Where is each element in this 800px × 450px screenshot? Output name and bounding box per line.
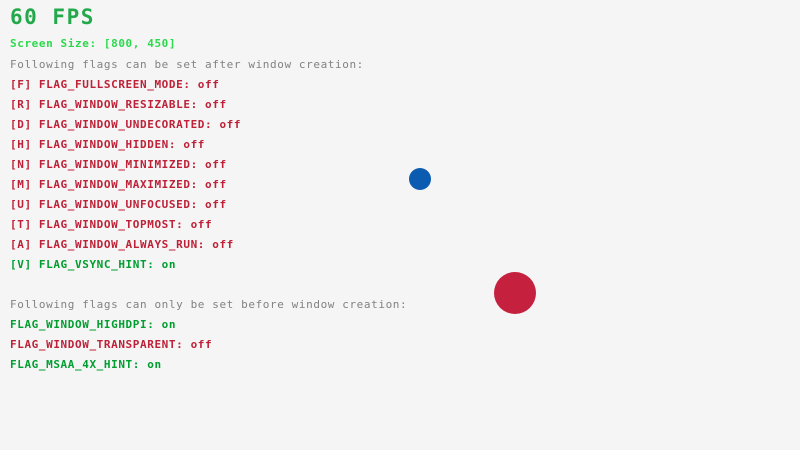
heading-flags-after-creation: Following flags can be set after window … bbox=[10, 59, 364, 70]
flag-row-flag-window-transparent[interactable]: FLAG_WINDOW_TRANSPARENT: off bbox=[10, 339, 212, 350]
fps-counter: 60 FPS bbox=[10, 7, 95, 28]
flag-row-flag-window-minimized[interactable]: [N] FLAG_WINDOW_MINIMIZED: off bbox=[10, 159, 227, 170]
flag-row-flag-window-always-run[interactable]: [A] FLAG_WINDOW_ALWAYS_RUN: off bbox=[10, 239, 234, 250]
flag-row-flag-window-maximized[interactable]: [M] FLAG_WINDOW_MAXIMIZED: off bbox=[10, 179, 227, 190]
flag-row-flag-vsync-hint[interactable]: [V] FLAG_VSYNC_HINT: on bbox=[10, 259, 176, 270]
bouncing-ball-red bbox=[494, 272, 536, 314]
flag-row-flag-fullscreen-mode[interactable]: [F] FLAG_FULLSCREEN_MODE: off bbox=[10, 79, 219, 90]
heading-flags-before-creation: Following flags can only be set before w… bbox=[10, 299, 407, 310]
flag-row-flag-window-hidden[interactable]: [H] FLAG_WINDOW_HIDDEN: off bbox=[10, 139, 205, 150]
screen-size-readout: Screen Size: [800, 450] bbox=[10, 38, 176, 49]
flag-row-flag-msaa-4x-hint[interactable]: FLAG_MSAA_4X_HINT: on bbox=[10, 359, 162, 370]
flag-row-flag-window-undecorated[interactable]: [D] FLAG_WINDOW_UNDECORATED: off bbox=[10, 119, 241, 130]
bouncing-ball-blue bbox=[409, 168, 431, 190]
flag-row-flag-window-resizable[interactable]: [R] FLAG_WINDOW_RESIZABLE: off bbox=[10, 99, 227, 110]
flag-row-flag-window-highdpi[interactable]: FLAG_WINDOW_HIGHDPI: on bbox=[10, 319, 176, 330]
raylib-window-flags-demo: 60 FPS Screen Size: [800, 450] Following… bbox=[0, 0, 800, 450]
flag-row-flag-window-topmost[interactable]: [T] FLAG_WINDOW_TOPMOST: off bbox=[10, 219, 212, 230]
flag-row-flag-window-unfocused[interactable]: [U] FLAG_WINDOW_UNFOCUSED: off bbox=[10, 199, 227, 210]
